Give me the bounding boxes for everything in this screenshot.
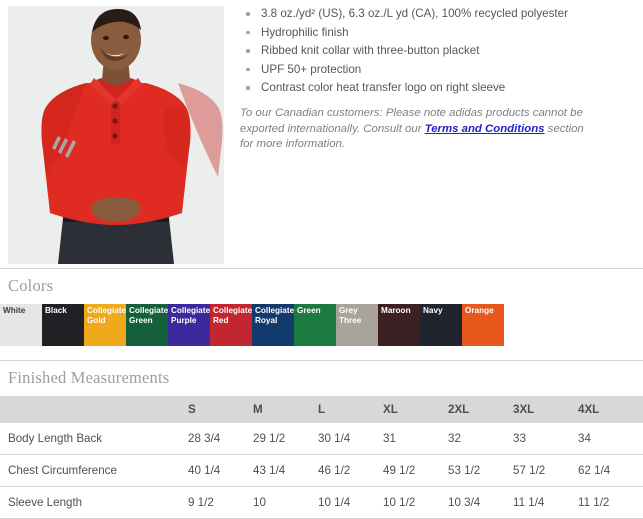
color-swatch-label: Collegiate Royal	[255, 306, 293, 326]
measurement-value: 49 1/2	[383, 455, 448, 487]
measurement-value: 40 1/4	[188, 455, 253, 487]
table-header: SMLXL2XL3XL4XL	[0, 396, 643, 423]
product-photo-frame	[8, 6, 224, 264]
product-specs: 3.8 oz./yd² (US), 6.3 oz./L yd (CA), 100…	[240, 0, 636, 164]
color-swatch-label: Black	[45, 306, 83, 316]
list-item: Contrast color heat transfer logo on rig…	[240, 80, 636, 95]
measurement-value: 30 1/4	[318, 423, 383, 455]
measurement-value: 9 1/2	[188, 487, 253, 519]
product-photo-illustration	[8, 6, 224, 264]
list-item: UPF 50+ protection	[240, 62, 636, 77]
color-swatch[interactable]: Collegiate Red	[210, 304, 252, 346]
list-item: Hydrophilic finish	[240, 25, 636, 40]
product-detail-page: 3.8 oz./yd² (US), 6.3 oz./L yd (CA), 100…	[0, 0, 643, 492]
measurement-value: 57 1/2	[513, 455, 578, 487]
color-swatch-label: Collegiate Green	[129, 306, 167, 326]
measurement-label: Body Length Back	[0, 423, 188, 455]
color-swatch[interactable]: Collegiate Purple	[168, 304, 210, 346]
table-row: Body Length Back28 3/429 1/230 1/4313233…	[0, 423, 643, 455]
measurement-value: 33	[513, 423, 578, 455]
size-column-header: XL	[383, 396, 448, 423]
list-item: 3.8 oz./yd² (US), 6.3 oz./L yd (CA), 100…	[240, 6, 636, 21]
table-row: Sleeve Length9 1/21010 1/410 1/210 3/411…	[0, 487, 643, 519]
product-image[interactable]	[8, 6, 224, 264]
measurement-value: 10	[253, 487, 318, 519]
color-swatch[interactable]: Grey Three	[336, 304, 378, 346]
measurement-value: 10 1/4	[318, 487, 383, 519]
table-body: Body Length Back28 3/429 1/230 1/4313233…	[0, 423, 643, 519]
color-swatch-label: Orange	[465, 306, 503, 316]
measurement-label: Sleeve Length	[0, 487, 188, 519]
table-row: Chest Circumference40 1/443 1/446 1/249 …	[0, 455, 643, 487]
measurement-name-header	[0, 396, 188, 423]
size-column-header: L	[318, 396, 383, 423]
size-column-header: 2XL	[448, 396, 513, 423]
color-swatch-label: Collegiate Gold	[87, 306, 125, 326]
measurement-value: 10 3/4	[448, 487, 513, 519]
color-swatch[interactable]: Collegiate Green	[126, 304, 168, 346]
feature-list: 3.8 oz./yd² (US), 6.3 oz./L yd (CA), 100…	[240, 6, 636, 95]
colors-heading: Colors	[0, 269, 643, 304]
measurement-value: 11 1/2	[578, 487, 643, 519]
measurement-value: 62 1/4	[578, 455, 643, 487]
finished-measurements-table: SMLXL2XL3XL4XL Body Length Back28 3/429 …	[0, 396, 643, 519]
measurement-label: Chest Circumference	[0, 455, 188, 487]
measurement-value: 34	[578, 423, 643, 455]
measurement-value: 32	[448, 423, 513, 455]
measurement-value: 46 1/2	[318, 455, 383, 487]
terms-and-conditions-link[interactable]: Terms and Conditions	[425, 123, 545, 135]
list-item: Ribbed knit collar with three-button pla…	[240, 43, 636, 58]
measurement-value: 53 1/2	[448, 455, 513, 487]
measurement-value: 10 1/2	[383, 487, 448, 519]
color-swatch-list: WhiteBlackCollegiate GoldCollegiate Gree…	[0, 304, 643, 346]
measurement-value: 43 1/4	[253, 455, 318, 487]
color-swatch[interactable]: Green	[294, 304, 336, 346]
table-header-row: SMLXL2XL3XL4XL	[0, 396, 643, 423]
size-column-header: M	[253, 396, 318, 423]
measurement-value: 28 3/4	[188, 423, 253, 455]
color-swatch-label: Collegiate Red	[213, 306, 251, 326]
color-swatch-label: Grey Three	[339, 306, 377, 326]
size-column-header: 4XL	[578, 396, 643, 423]
color-swatch-label: Green	[297, 306, 335, 316]
measurement-value: 29 1/2	[253, 423, 318, 455]
color-swatch[interactable]: White	[0, 304, 42, 346]
product-overview: 3.8 oz./yd² (US), 6.3 oz./L yd (CA), 100…	[0, 0, 643, 264]
measurement-value: 11 1/4	[513, 487, 578, 519]
color-swatch[interactable]: Collegiate Gold	[84, 304, 126, 346]
color-swatch[interactable]: Black	[42, 304, 84, 346]
canadian-customers-disclaimer: To our Canadian customers: Please note a…	[240, 106, 590, 153]
color-swatch[interactable]: Maroon	[378, 304, 420, 346]
color-swatch[interactable]: Navy	[420, 304, 462, 346]
size-column-header: S	[188, 396, 253, 423]
color-swatch-label: White	[3, 306, 41, 316]
color-swatch-label: Collegiate Purple	[171, 306, 209, 326]
color-swatch-label: Navy	[423, 306, 461, 316]
color-swatch[interactable]: Orange	[462, 304, 504, 346]
size-column-header: 3XL	[513, 396, 578, 423]
color-swatch-label: Maroon	[381, 306, 419, 316]
measurement-value: 31	[383, 423, 448, 455]
measurements-heading: Finished Measurements	[0, 361, 643, 396]
color-swatch[interactable]: Collegiate Royal	[252, 304, 294, 346]
